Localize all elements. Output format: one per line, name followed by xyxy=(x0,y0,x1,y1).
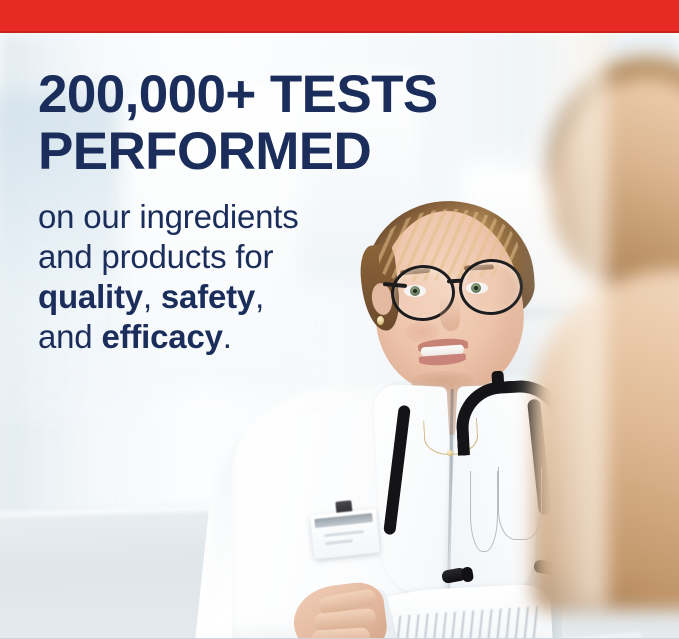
subhead-line-2: and products for xyxy=(38,237,458,277)
badge-text-line xyxy=(325,539,353,545)
stethoscope-stem xyxy=(491,371,504,394)
patient-edge-glow xyxy=(511,0,607,606)
subheadline: on our ingredients and products for qual… xyxy=(38,197,458,357)
stethoscope-wire-left xyxy=(470,471,498,552)
subhead-line-4-prefix: and xyxy=(38,318,101,355)
red-accent-bar-edge xyxy=(0,31,679,33)
subhead-sep-2: , xyxy=(255,278,264,315)
headline: 200,000+ TESTS PERFORMED xyxy=(38,66,458,180)
badge-header-strip xyxy=(314,513,373,528)
text-block: 200,000+ TESTS PERFORMED on our ingredie… xyxy=(38,66,458,357)
emphasis-safety: safety xyxy=(161,278,255,315)
blurred-foreground-patient xyxy=(523,0,679,606)
emphasis-efficacy: efficacy xyxy=(101,318,222,355)
subhead-line-4: and efficacy. xyxy=(38,317,458,357)
badge-text-line xyxy=(324,530,364,537)
subhead-line-3: quality, safety, xyxy=(38,277,458,317)
name-badge xyxy=(310,509,380,560)
necklace-pendant xyxy=(447,450,453,456)
lab-coat-lapel-left xyxy=(372,383,457,597)
promotional-banner: 200,000+ TESTS PERFORMED on our ingredie… xyxy=(0,0,679,639)
subhead-line-4-suffix: . xyxy=(223,318,232,355)
subhead-line-1: on our ingredients xyxy=(38,197,458,237)
red-accent-bar xyxy=(0,0,679,31)
subhead-sep-1: , xyxy=(143,278,161,315)
emphasis-quality: quality xyxy=(38,278,143,315)
